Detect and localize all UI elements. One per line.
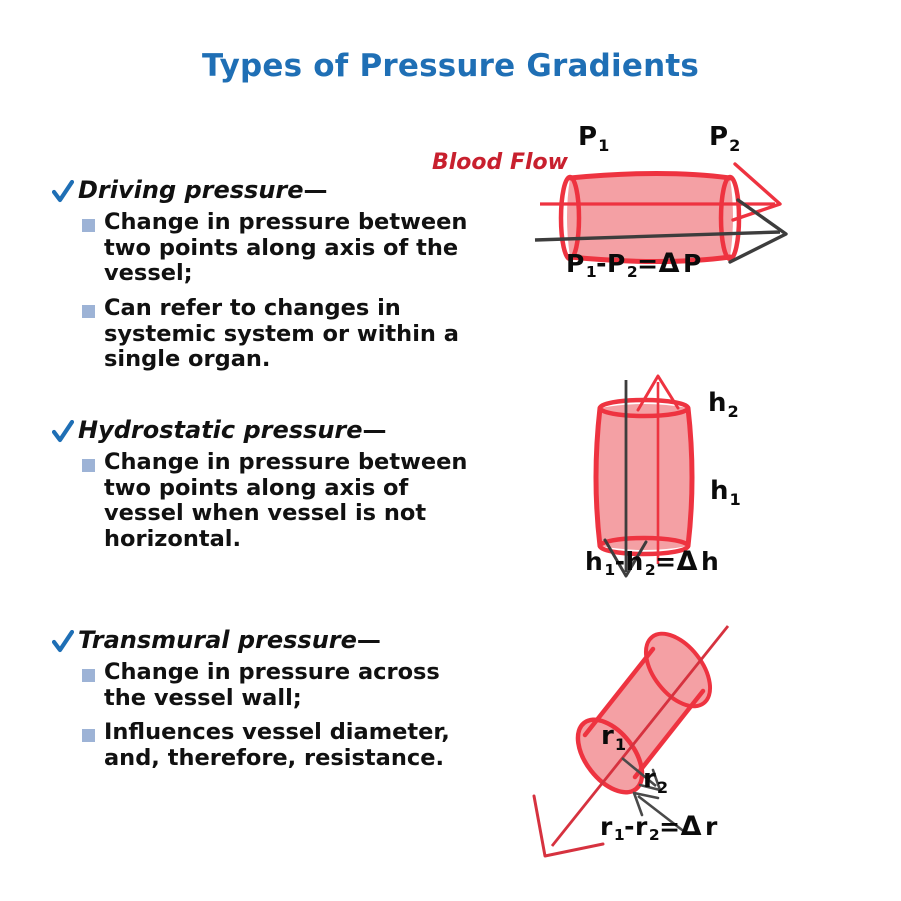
list-item: Change in pressure between two points al… <box>82 450 482 553</box>
radius-label-r1: r1 <box>601 723 625 749</box>
sub-bullet-list: Change in pressure between two points al… <box>52 210 482 373</box>
heading-dash: — <box>304 176 327 204</box>
checkmark-icon <box>52 630 74 656</box>
square-bullet-icon <box>82 219 95 232</box>
blood-flow-label: Blood Flow <box>432 150 568 175</box>
list-item: Can refer to changes in systemic system … <box>82 296 482 373</box>
diagram-driving-pressure: Blood Flow P1 P2 P1-P2=Δ P <box>430 122 895 302</box>
page-title: Types of Pressure Gradients <box>0 48 901 84</box>
section-heading-row: Hydrostatic pressure— <box>52 418 482 446</box>
section-heading-text: Hydrostatic pressure— <box>78 418 386 443</box>
checkmark-icon <box>52 420 74 446</box>
pressure-label-p2: P2 <box>709 124 739 150</box>
pressure-label-p1: P1 <box>578 124 608 150</box>
list-item: Change in pressure between two points al… <box>82 210 482 287</box>
equation-hydrostatic-pressure: h1-h2=Δ h <box>585 548 719 575</box>
heading-label: Transmural pressure <box>78 626 357 654</box>
section-transmural-pressure: Transmural pressure— Change in pressure … <box>52 628 482 781</box>
section-heading-row: Driving pressure— <box>52 178 482 206</box>
bullet-text: Can refer to changes in systemic system … <box>104 296 482 373</box>
heading-dash: — <box>357 626 380 654</box>
list-item: Change in pressure across the vessel wal… <box>82 660 482 711</box>
section-heading-row: Transmural pressure— <box>52 628 482 656</box>
section-driving-pressure: Driving pressure— Change in pressure bet… <box>52 178 482 382</box>
equation-transmural-pressure: r1-r2=Δ r <box>600 813 718 840</box>
equation-driving-pressure: P1-P2=Δ P <box>566 250 702 277</box>
square-bullet-icon <box>82 669 95 682</box>
square-bullet-icon <box>82 459 95 472</box>
height-label-h2: h2 <box>708 390 738 416</box>
list-item: Influences vessel diameter, and, therefo… <box>82 720 482 771</box>
bullet-text: Influences vessel diameter, and, therefo… <box>104 720 482 771</box>
radius-label-r2: r2 <box>643 766 667 792</box>
sub-bullet-list: Change in pressure across the vessel wal… <box>52 660 482 772</box>
height-label-h1: h1 <box>710 478 740 504</box>
heading-label: Hydrostatic pressure <box>78 416 363 444</box>
slide-canvas: Types of Pressure Gradients Driving pres… <box>0 0 901 901</box>
checkmark-icon <box>52 180 74 206</box>
bullet-text: Change in pressure across the vessel wal… <box>104 660 482 711</box>
diagram-hydrostatic-pressure: h2 h1 h1-h2=Δ h <box>560 368 870 583</box>
sub-bullet-list: Change in pressure between two points al… <box>52 450 482 553</box>
heading-label: Driving pressure <box>78 176 304 204</box>
heading-dash: — <box>363 416 386 444</box>
transmural-pressure-illustration <box>490 618 890 888</box>
square-bullet-icon <box>82 729 95 742</box>
vessel-body-fill <box>597 404 692 550</box>
section-heading-text: Transmural pressure— <box>78 628 380 653</box>
square-bullet-icon <box>82 305 95 318</box>
diagram-transmural-pressure: r1 r2 r1-r2=Δ r <box>490 618 890 888</box>
bullet-text: Change in pressure between two points al… <box>104 210 482 287</box>
bullet-text: Change in pressure between two points al… <box>104 450 482 553</box>
section-heading-text: Driving pressure— <box>78 178 327 203</box>
section-hydrostatic-pressure: Hydrostatic pressure— Change in pressure… <box>52 418 482 562</box>
vessel-body-fill <box>567 174 733 261</box>
